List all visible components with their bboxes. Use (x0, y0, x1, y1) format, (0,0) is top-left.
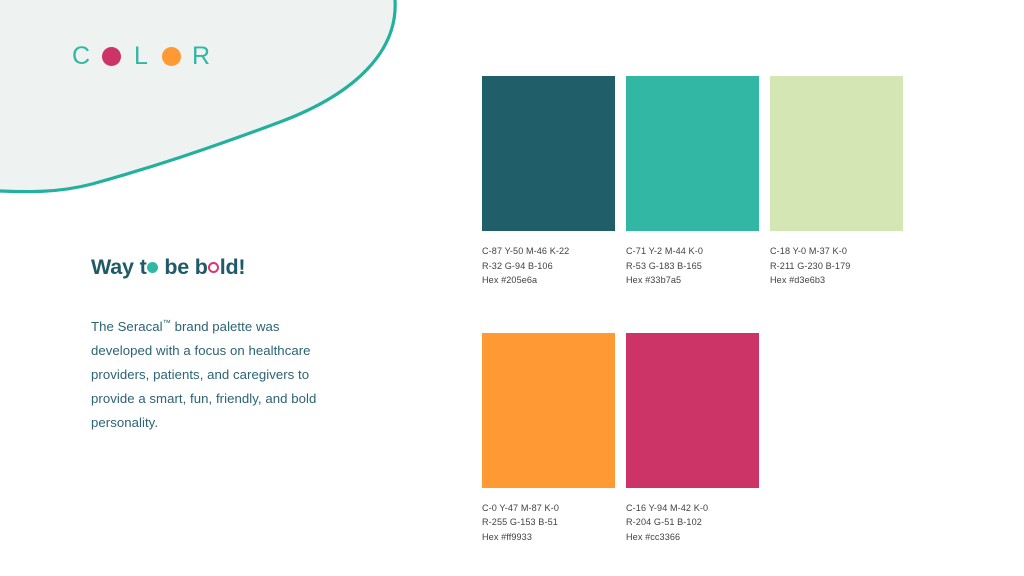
logo-dot-o-orange (156, 47, 186, 66)
body-text-before-tm: The Seracal (91, 319, 163, 334)
swatch-orange[interactable]: C-0 Y-47 M-87 K-0 R-255 G-153 B-51 Hex #… (482, 333, 615, 545)
swatch-hex: Hex #205e6a (482, 273, 615, 288)
swatch-rgb: R-32 G-94 B-106 (482, 259, 615, 274)
swatch-info-teal: C-71 Y-2 M-44 K-0 R-53 G-183 B-165 Hex #… (626, 244, 759, 288)
swatch-light-green[interactable]: C-18 Y-0 M-37 K-0 R-211 G-230 B-179 Hex … (770, 76, 903, 288)
logo-letter-l: L (126, 44, 156, 69)
swatch-chip-magenta[interactable] (626, 333, 759, 488)
swatch-cmyk: C-71 Y-2 M-44 K-0 (626, 244, 759, 259)
swatch-info-light-green: C-18 Y-0 M-37 K-0 R-211 G-230 B-179 Hex … (770, 244, 903, 288)
swatch-teal[interactable]: C-71 Y-2 M-44 K-0 R-53 G-183 B-165 Hex #… (626, 76, 759, 288)
swatch-rgb: R-53 G-183 B-165 (626, 259, 759, 274)
swatch-chip-orange[interactable] (482, 333, 615, 488)
headline-part-3: ld! (220, 255, 246, 279)
swatch-hex: Hex #33b7a5 (626, 273, 759, 288)
body-paragraph: The Seracal™ brand palette was developed… (91, 315, 331, 435)
swatch-hex: Hex #cc3366 (626, 530, 759, 545)
swatch-chip-deep-teal[interactable] (482, 76, 615, 231)
logo-dot-o-magenta (96, 47, 126, 66)
swatch-rgb: R-204 G-51 B-102 (626, 515, 759, 530)
color-palette: C-87 Y-50 M-46 K-22 R-32 G-94 B-106 Hex … (482, 76, 894, 545)
headline-part-2: be b (159, 255, 208, 279)
swatch-hex: Hex #d3e6b3 (770, 273, 903, 288)
palette-row-bottom: C-0 Y-47 M-87 K-0 R-255 G-153 B-51 Hex #… (482, 333, 894, 545)
swatch-info-orange: C-0 Y-47 M-87 K-0 R-255 G-153 B-51 Hex #… (482, 501, 615, 545)
swatch-deep-teal[interactable]: C-87 Y-50 M-46 K-22 R-32 G-94 B-106 Hex … (482, 76, 615, 288)
brand-logo: C L R (66, 41, 216, 71)
swatch-cmyk: C-18 Y-0 M-37 K-0 (770, 244, 903, 259)
headline-dot-magenta-icon (208, 262, 219, 273)
palette-row-top: C-87 Y-50 M-46 K-22 R-32 G-94 B-106 Hex … (482, 76, 894, 288)
trademark-symbol: ™ (163, 319, 171, 328)
swatch-cmyk: C-16 Y-94 M-42 K-0 (626, 501, 759, 516)
decorative-blob-shape (0, 0, 430, 215)
headline-part-1: Way t (91, 255, 147, 279)
swatch-rgb: R-255 G-153 B-51 (482, 515, 615, 530)
blob-fill (0, 0, 395, 192)
swatch-chip-teal[interactable] (626, 76, 759, 231)
swatch-cmyk: C-0 Y-47 M-87 K-0 (482, 501, 615, 516)
swatch-cmyk: C-87 Y-50 M-46 K-22 (482, 244, 615, 259)
body-text-after-tm: brand palette was developed with a focus… (91, 319, 316, 430)
swatch-hex: Hex #ff9933 (482, 530, 615, 545)
blob-curve-stroke (0, 0, 395, 192)
swatch-rgb: R-211 G-230 B-179 (770, 259, 903, 274)
logo-letter-r: R (186, 44, 216, 69)
logo-letter-c: C (66, 44, 96, 69)
swatch-info-deep-teal: C-87 Y-50 M-46 K-22 R-32 G-94 B-106 Hex … (482, 244, 615, 288)
swatch-info-magenta: C-16 Y-94 M-42 K-0 R-204 G-51 B-102 Hex … (626, 501, 759, 545)
headline-dot-teal-icon (147, 262, 158, 273)
swatch-magenta[interactable]: C-16 Y-94 M-42 K-0 R-204 G-51 B-102 Hex … (626, 333, 759, 545)
swatch-chip-light-green[interactable] (770, 76, 903, 231)
page-headline: Way t be bld! (91, 257, 245, 279)
